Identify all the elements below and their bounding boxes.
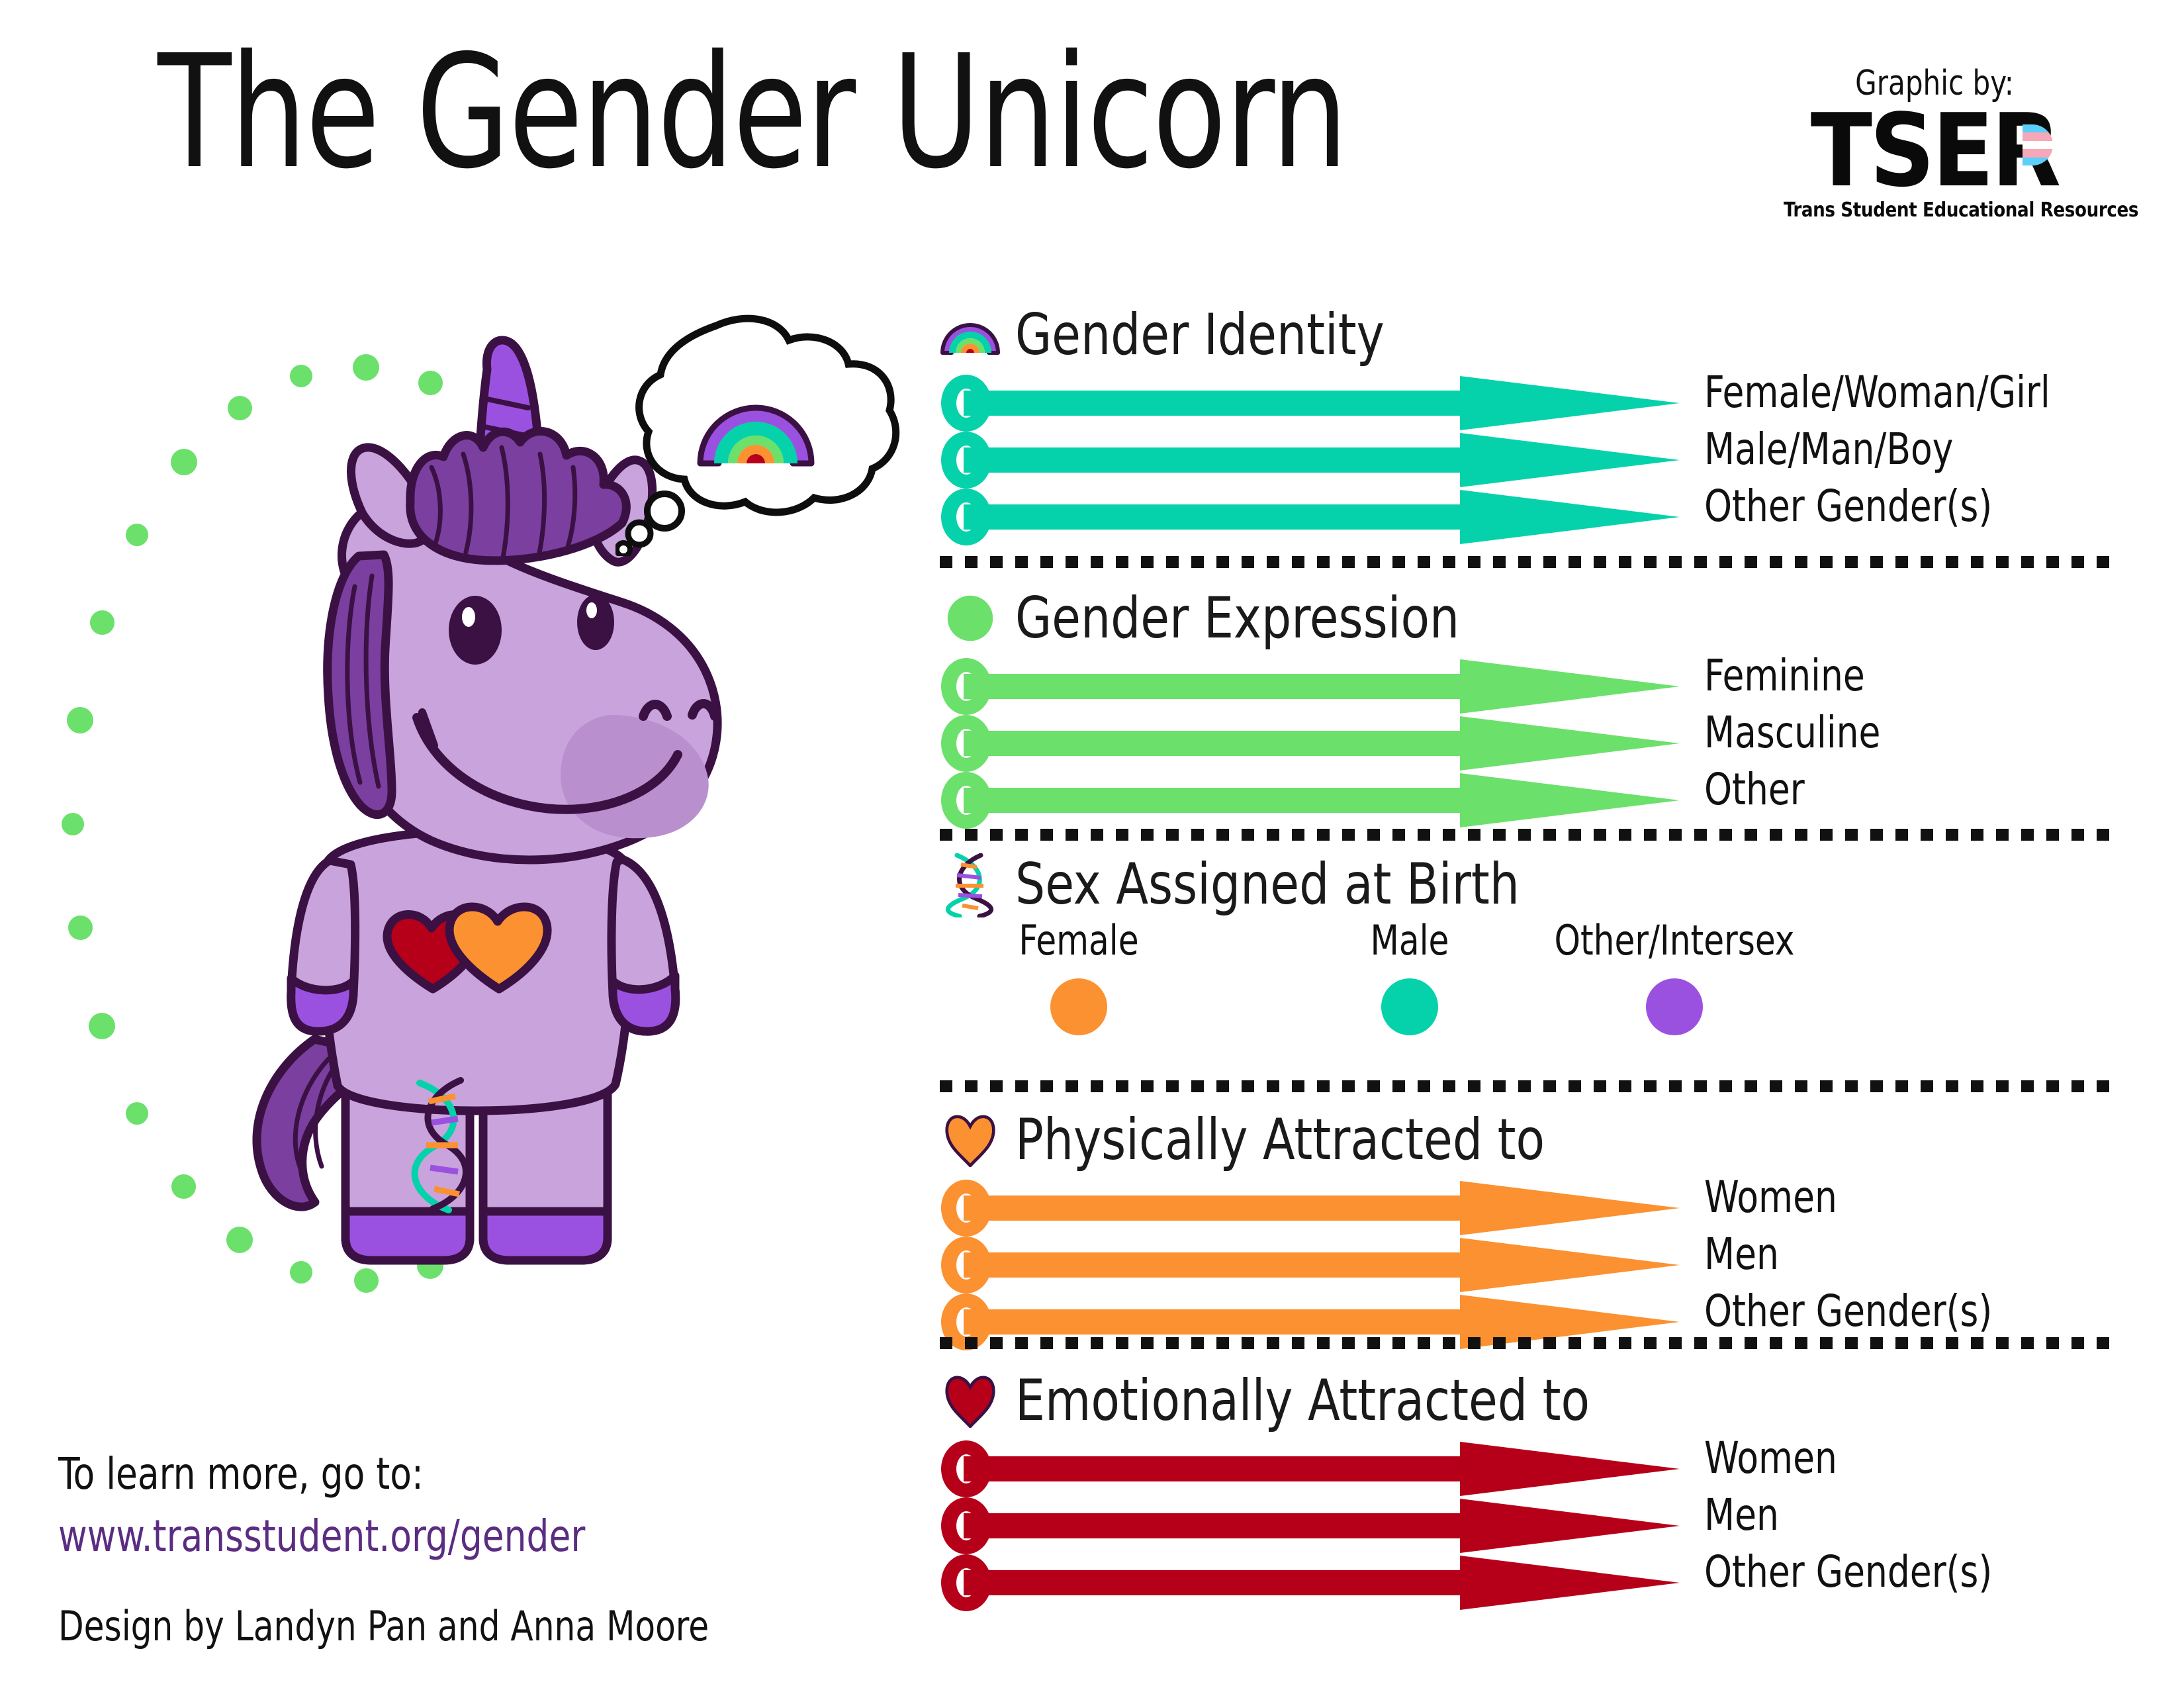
section-divider	[940, 1337, 2105, 1349]
spectrum-row-label: Male/Man/Boy	[1704, 428, 1953, 471]
red-heart-icon	[940, 1374, 1001, 1427]
spectrum-row-label: Other Gender(s)	[1704, 485, 1992, 528]
spectrum-rows: Female/Woman/GirlMale/Man/BoyOther Gende…	[940, 375, 1416, 545]
section-divider	[940, 556, 2105, 568]
spectrum-rows: WomenMenOther Gender(s)	[940, 1180, 1591, 1350]
spectrum-row-label: Masculine	[1704, 711, 1880, 755]
green-dot	[68, 915, 93, 940]
section-title: Physically Attracted to	[1015, 1111, 1545, 1168]
spectrum-arrow	[940, 375, 1681, 432]
spectrum-rows: WomenMenOther Gender(s)	[940, 1440, 1640, 1611]
sex-option-female[interactable]: Female	[940, 920, 1218, 1035]
green-dot	[90, 610, 114, 635]
green-dot	[126, 1102, 148, 1125]
section-title: Emotionally Attracted to	[1015, 1372, 1590, 1429]
tser-wordmark: TSER	[1779, 105, 2090, 197]
page-title: The Gender Unicorn	[158, 34, 1347, 191]
spectrum-row-label: Feminine	[1704, 654, 1865, 698]
green-dot	[62, 813, 84, 835]
section-emotionally-attracted-to: Emotionally Attracted toWomenMenOther Ge…	[940, 1365, 1640, 1611]
section-title: Sex Assigned at Birth	[1015, 856, 1520, 913]
spectrum-arrow	[940, 772, 1681, 829]
spectrum-arrow	[940, 1440, 1681, 1497]
sex-option-dot	[1646, 978, 1703, 1035]
spectrum-row-label: Men	[1704, 1233, 1779, 1276]
spectrum-row[interactable]: Male/Man/Boy	[940, 432, 1416, 489]
spectrum-row-label: Other Gender(s)	[1704, 1289, 1992, 1333]
spectrum-row[interactable]: Men	[940, 1497, 1640, 1554]
section-sex-assigned-at-birth: Sex Assigned at BirthFemaleMaleOther/Int…	[940, 849, 1563, 1086]
sex-option-label: Male	[1285, 920, 1535, 961]
sex-option-male[interactable]: Male	[1271, 920, 1549, 1035]
spectrum-arrow	[940, 489, 1681, 545]
section-header: Gender Expression	[940, 583, 1498, 654]
tser-wordmark-text: TSER	[1811, 92, 2059, 209]
green-circle-icon	[940, 592, 1001, 645]
section-header: Sex Assigned at Birth	[940, 849, 1563, 920]
sex-option-dot	[1381, 978, 1438, 1035]
spectrum-rows: FeminineMasculineOther	[940, 658, 1498, 829]
green-dot	[126, 524, 148, 546]
spectrum-row-label: Women	[1704, 1176, 1837, 1219]
orange-heart-icon	[940, 1113, 1001, 1166]
spectrum-arrow	[940, 1237, 1681, 1293]
spectrum-arrow	[940, 715, 1681, 772]
section-physically-attracted-to: Physically Attracted toWomenMenOther Gen…	[940, 1104, 1591, 1350]
section-divider	[940, 1080, 2105, 1092]
green-dot	[171, 449, 197, 475]
spectrum-row-label: Men	[1704, 1493, 1779, 1537]
spectrum-row-label: Women	[1704, 1436, 1837, 1480]
spectrum-row[interactable]: Other Gender(s)	[940, 489, 1416, 545]
learn-more-block: To learn more, go to: www.transstudent.o…	[58, 1443, 585, 1567]
design-credit: Design by Landyn Pan and Anna Moore	[58, 1602, 709, 1650]
section-header: Physically Attracted to	[940, 1104, 1591, 1176]
spectrum-row[interactable]: Other	[940, 772, 1498, 829]
spectrum-row[interactable]: Feminine	[940, 658, 1498, 715]
rainbow-icon	[940, 308, 1001, 361]
spectrum-row[interactable]: Masculine	[940, 715, 1498, 772]
learn-more-label: To learn more, go to:	[58, 1443, 585, 1505]
spectrum-row-label: Other	[1704, 768, 1805, 812]
spectrum-row[interactable]: Men	[940, 1237, 1591, 1293]
website-url[interactable]: www.transstudent.org/gender	[58, 1505, 585, 1568]
spectrum-row-label: Other Gender(s)	[1704, 1550, 1992, 1594]
dna-icon	[940, 858, 1001, 911]
infographic-canvas: The Gender Unicorn Graphic by: TSER Tran…	[0, 0, 2184, 1688]
green-dot	[89, 1013, 115, 1039]
sex-option-other-intersex[interactable]: Other/Intersex	[1535, 920, 1813, 1035]
section-title: Gender Expression	[1015, 590, 1459, 647]
green-dot	[171, 1174, 196, 1199]
spectrum-row-label: Female/Woman/Girl	[1704, 371, 2050, 414]
spectrum-arrow	[940, 1497, 1681, 1554]
spectrum-row[interactable]: Women	[940, 1440, 1640, 1497]
section-header: Emotionally Attracted to	[940, 1365, 1640, 1436]
section-gender-identity: Gender IdentityFemale/Woman/GirlMale/Man…	[940, 299, 1416, 545]
thought-bubble	[615, 311, 900, 556]
sex-option-label: Female	[954, 920, 1204, 961]
green-dot	[67, 707, 93, 733]
section-title: Gender Identity	[1015, 306, 1385, 363]
tser-tagline: Trans Student Educational Resources	[1784, 199, 2085, 222]
section-header: Gender Identity	[940, 299, 1416, 371]
tser-logo: Graphic by: TSER Trans Student Education…	[1779, 64, 2090, 222]
spectrum-arrow	[940, 1180, 1681, 1237]
spectrum-arrow	[940, 432, 1681, 489]
spectrum-arrow	[940, 1554, 1681, 1611]
section-gender-expression: Gender ExpressionFeminineMasculineOther	[940, 583, 1498, 829]
spectrum-row[interactable]: Women	[940, 1180, 1591, 1237]
spectrum-row[interactable]: Other Gender(s)	[940, 1554, 1640, 1611]
spectrum-arrow	[940, 658, 1681, 715]
spectrum-row[interactable]: Female/Woman/Girl	[940, 375, 1416, 432]
section-divider	[940, 829, 2105, 841]
sex-option-dot	[1050, 978, 1107, 1035]
sex-option-label: Other/Intersex	[1549, 920, 1799, 961]
sex-assigned-options: FemaleMaleOther/Intersex	[940, 920, 1563, 1086]
